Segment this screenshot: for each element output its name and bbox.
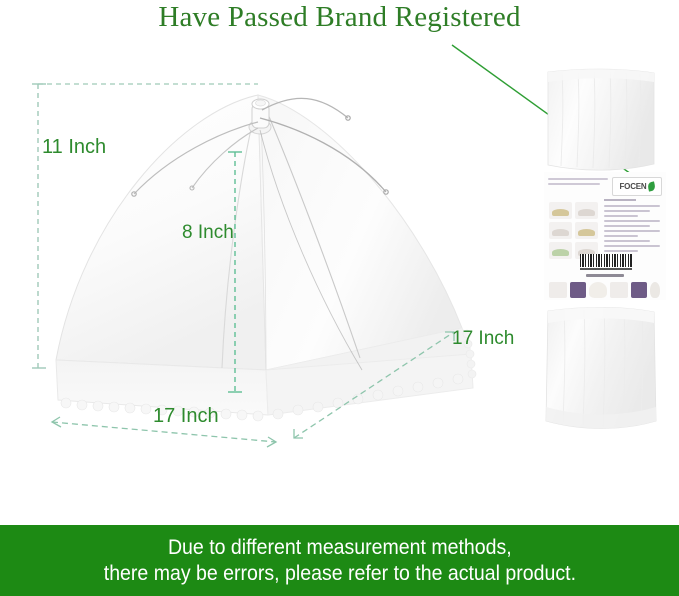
dimension-label-depth: 17 Inch xyxy=(452,328,514,350)
product-infographic: Have Passed Brand Registered xyxy=(0,0,679,596)
storage-step-icon xyxy=(549,282,567,298)
thumbnail xyxy=(549,202,572,219)
feature-row xyxy=(604,210,650,212)
product-thumbnail-grid xyxy=(549,202,599,259)
brand-name: FOCEN xyxy=(619,182,646,191)
thumbnail xyxy=(549,242,572,259)
disclaimer-line-1: Due to different measurement methods, xyxy=(168,535,512,561)
product-illustration xyxy=(30,70,500,450)
thumbnail xyxy=(549,222,572,239)
brand-logo: FOCEN xyxy=(612,177,662,196)
folded-product-in-bag-photo xyxy=(538,303,664,453)
disclaimer-banner: Due to different measurement methods, th… xyxy=(0,525,679,596)
card-title-placeholder xyxy=(548,178,610,188)
barcode xyxy=(580,254,632,267)
leaf-icon xyxy=(647,181,656,191)
thumbnail xyxy=(575,202,598,219)
storage-step-icon xyxy=(631,282,647,298)
feature-row xyxy=(604,220,660,222)
feature-row xyxy=(604,245,660,247)
dimension-label-canopy-height: 8 Inch xyxy=(182,222,234,244)
storage-step-icon xyxy=(570,282,586,298)
disclaimer-line-2: there may be errors, please refer to the… xyxy=(103,561,575,587)
feature-row xyxy=(604,250,638,252)
feature-row xyxy=(604,230,660,232)
food-cover-tent-icon xyxy=(30,70,500,450)
feature-row xyxy=(604,240,650,242)
packaging-column: FOCEN xyxy=(528,60,674,470)
barcode-number xyxy=(580,268,632,270)
dimension-label-height: 11 Inch xyxy=(42,136,106,159)
feature-row xyxy=(604,235,638,237)
feature-row xyxy=(604,205,660,207)
page-title: Have Passed Brand Registered xyxy=(0,1,679,34)
storage-method-row xyxy=(549,281,662,298)
title-line-1 xyxy=(548,178,608,180)
feature-row xyxy=(604,215,638,217)
thumbnail xyxy=(575,222,598,239)
dimension-label-width: 17 Inch xyxy=(153,405,219,428)
feature-row xyxy=(604,225,650,227)
feature-list-heading xyxy=(604,199,636,201)
package-label-card: FOCEN xyxy=(544,172,666,300)
storage-step-icon xyxy=(650,282,660,298)
feature-list xyxy=(604,199,662,255)
mesh-fabric-photo xyxy=(542,68,660,178)
card-header: FOCEN xyxy=(548,177,662,197)
title-line-2 xyxy=(548,183,600,185)
storage-step-icon xyxy=(589,282,607,298)
storage-step-icon xyxy=(610,282,628,298)
storage-method-heading xyxy=(586,274,624,277)
